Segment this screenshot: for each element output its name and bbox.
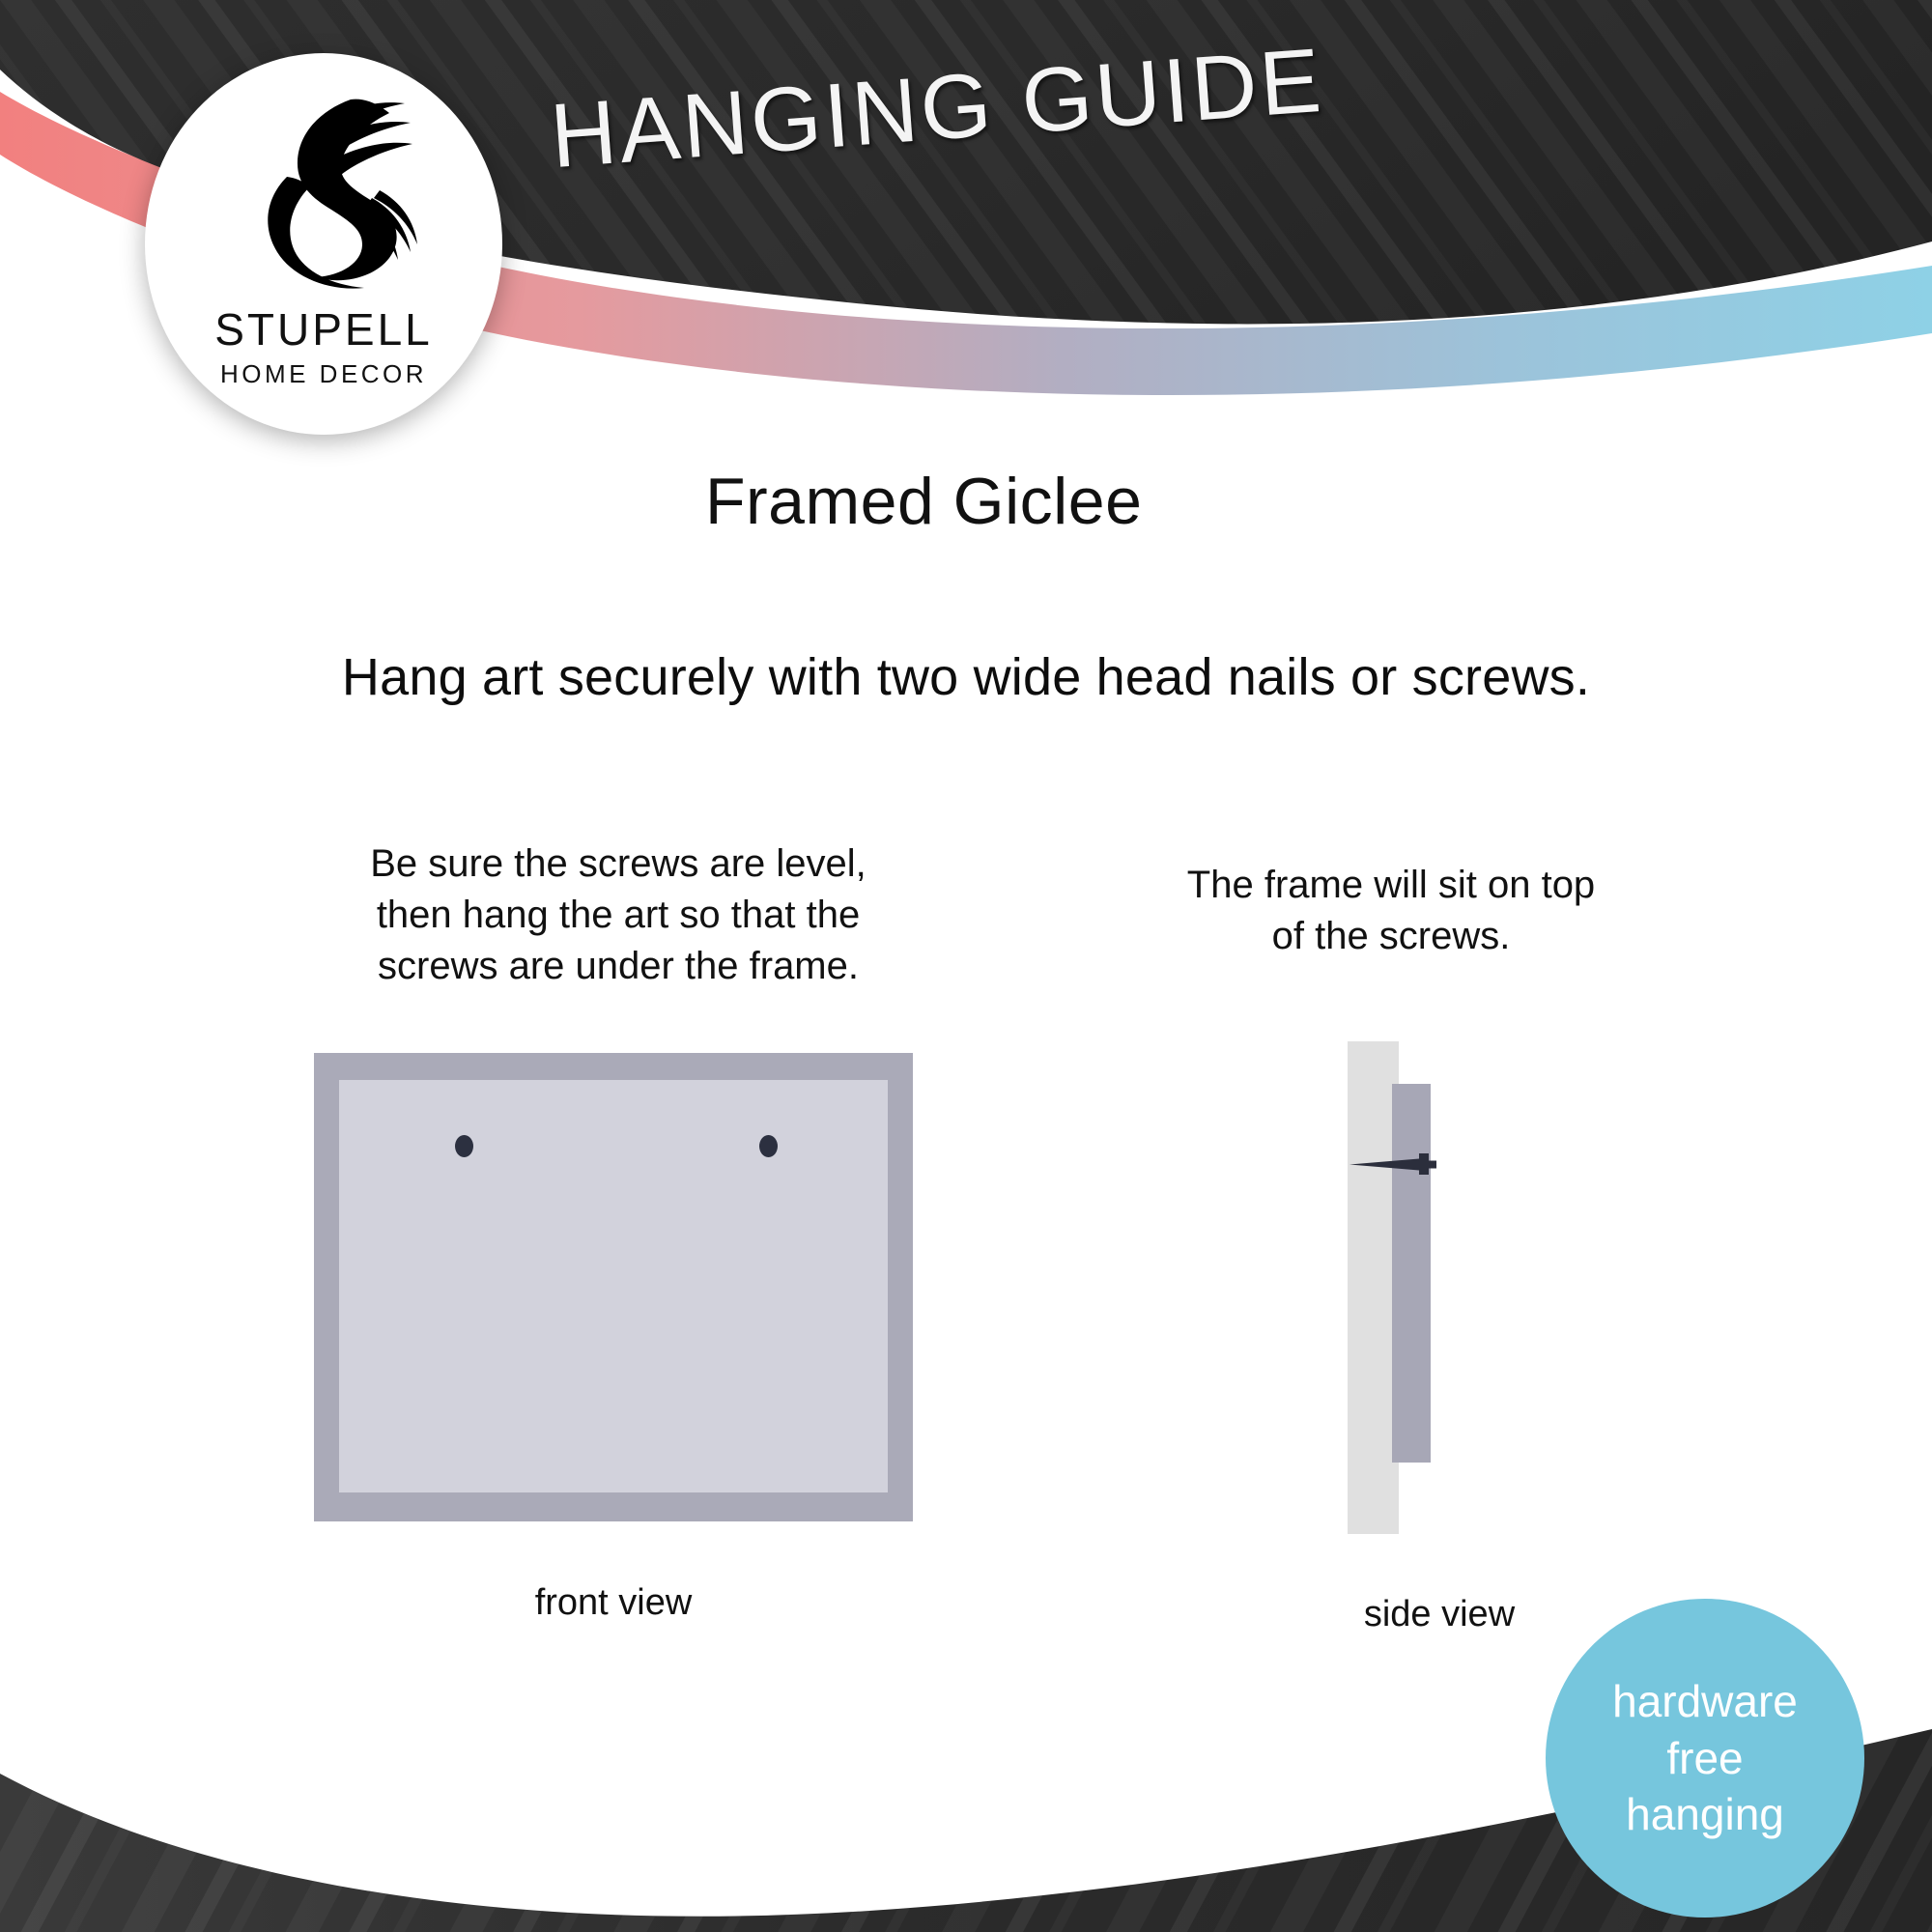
lead-instruction-text: Hang art securely with two wide head nai… bbox=[0, 647, 1932, 707]
badge-line-2: free bbox=[1666, 1730, 1743, 1786]
side-view-frame bbox=[1392, 1084, 1431, 1463]
nail-icon bbox=[1342, 1146, 1448, 1184]
front-view-diagram bbox=[314, 1053, 913, 1521]
product-type-heading: Framed Giclee bbox=[705, 464, 1142, 539]
page-title: HANGING GUIDE bbox=[538, 27, 1336, 189]
hardware-free-hanging-badge: hardware free hanging bbox=[1546, 1599, 1864, 1918]
logo-brand-subtitle: HOME DECOR bbox=[220, 361, 427, 386]
front-view-caption-line-3: screws are under the frame. bbox=[290, 941, 947, 992]
screw-dot-right-icon bbox=[759, 1135, 778, 1157]
screw-dot-left-icon bbox=[455, 1135, 473, 1157]
logo-brand-name: STUPELL bbox=[214, 307, 433, 352]
side-view-diagram bbox=[1348, 1041, 1526, 1534]
badge-line-1: hardware bbox=[1612, 1673, 1798, 1729]
badge-line-3: hanging bbox=[1626, 1786, 1784, 1842]
front-view-mat bbox=[339, 1080, 888, 1492]
front-view-caption-line-2: then hang the art so that the bbox=[290, 890, 947, 941]
side-view-caption: The frame will sit on top of the screws. bbox=[1121, 860, 1662, 962]
front-view-label: front view bbox=[314, 1582, 913, 1624]
side-view-caption-line-2: of the screws. bbox=[1121, 911, 1662, 962]
side-view-label: side view bbox=[1256, 1594, 1623, 1635]
side-view-caption-line-1: The frame will sit on top bbox=[1121, 860, 1662, 911]
brand-logo-badge: STUPELL HOME DECOR bbox=[145, 53, 502, 435]
swan-s-logo-icon bbox=[227, 92, 420, 299]
hanging-guide-page: STUPELL HOME DECOR HANGING GUIDE Framed … bbox=[0, 0, 1932, 1932]
front-view-caption: Be sure the screws are level, then hang … bbox=[290, 838, 947, 991]
front-view-caption-line-1: Be sure the screws are level, bbox=[290, 838, 947, 890]
